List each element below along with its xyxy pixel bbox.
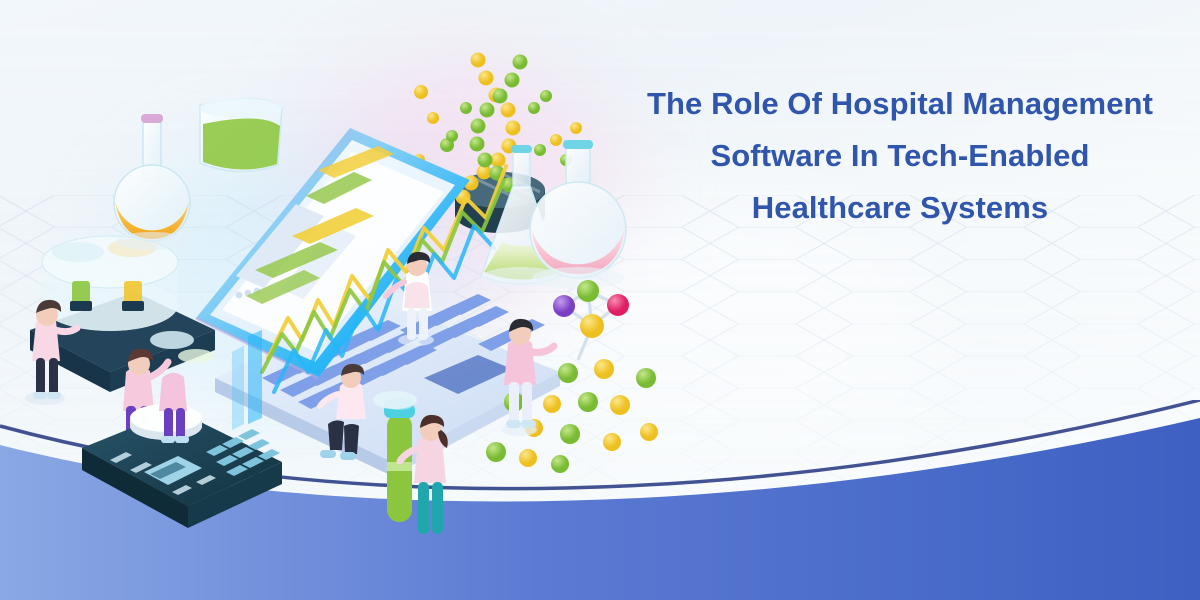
headline-line-1: The Role Of Hospital Management [600, 78, 1200, 130]
round-flask-orange [114, 114, 190, 250]
petri-dish [178, 349, 214, 363]
petri-dish [373, 391, 417, 409]
petri-dish [150, 331, 194, 349]
molecule-model [553, 280, 629, 360]
beaker-green [200, 98, 282, 172]
headline-line-3: Healthcare Systems [600, 182, 1200, 234]
page-title: The Role Of Hospital Management Software… [600, 78, 1200, 234]
headline-line-2: Software In Tech-Enabled [600, 130, 1200, 182]
hero-banner: The Role Of Hospital Management Software… [0, 0, 1200, 600]
